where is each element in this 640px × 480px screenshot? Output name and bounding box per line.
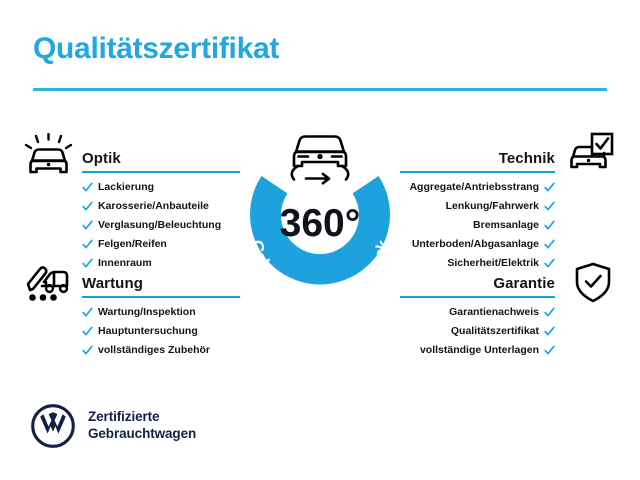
section-wartung-items: Wartung/InspektionHauptuntersuchungvolls… — [82, 307, 240, 356]
title-divider — [33, 88, 607, 91]
checklist-item-label: vollständiges Zubehör — [98, 345, 210, 356]
section-wartung-header: Wartung — [82, 268, 240, 298]
checklist-item: Hauptuntersuchung — [82, 326, 240, 337]
checklist-item-label: Felgen/Reifen — [98, 239, 167, 250]
checklist-item-label: Karosserie/Anbauteile — [98, 201, 209, 212]
checklist-item-label: vollständige Unterlagen — [420, 345, 539, 356]
checklist-item: Unterboden/Abgasanlage — [400, 239, 555, 250]
car-service-tool-icon — [22, 262, 74, 308]
quality-certificate-page: Qualitätszertifikat Optik LackierungKaro… — [0, 0, 640, 480]
badge-360-gebrauchtwagen-check: Gebrauchtwagen-Check 360° — [224, 120, 416, 312]
section-wartung-divider — [82, 296, 240, 298]
badge-center-label: 360° — [280, 202, 361, 245]
section-garantie-header: Garantie — [400, 268, 555, 298]
checklist-item-label: Garantienachweis — [449, 307, 539, 318]
checklist-item-label: Bremsanlage — [473, 220, 539, 231]
check-icon — [544, 239, 555, 250]
section-garantie-items: GarantienachweisQualitätszertifikatvolls… — [400, 307, 555, 356]
checklist-item: Qualitätszertifikat — [400, 326, 555, 337]
checklist-item: Verglasung/Beleuchtung — [82, 220, 240, 231]
check-icon — [82, 220, 93, 231]
volkswagen-logo — [31, 404, 75, 448]
section-optik-header: Optik — [82, 143, 240, 173]
check-icon — [82, 201, 93, 212]
car-checkbox-icon — [567, 131, 615, 177]
section-technik-title: Technik — [499, 150, 555, 167]
check-icon — [544, 220, 555, 231]
section-wartung: Wartung Wartung/InspektionHauptuntersuch… — [82, 268, 240, 364]
check-icon — [544, 307, 555, 318]
check-icon — [544, 201, 555, 212]
section-optik-title: Optik — [82, 150, 121, 167]
checklist-item: Bremsanlage — [400, 220, 555, 231]
section-garantie-divider — [400, 296, 555, 298]
check-icon — [544, 326, 555, 337]
checklist-item: Felgen/Reifen — [82, 239, 240, 250]
checklist-item-label: Wartung/Inspektion — [98, 307, 196, 318]
check-icon — [82, 307, 93, 318]
section-technik-items: Aggregate/AntriebsstrangLenkung/Fahrwerk… — [400, 182, 555, 269]
checklist-item-label: Lackierung — [98, 182, 154, 193]
checklist-item: Garantienachweis — [400, 307, 555, 318]
footer-line-1: Zertifizierte — [88, 409, 196, 426]
check-icon — [82, 345, 93, 356]
section-garantie-title: Garantie — [493, 275, 555, 292]
checklist-item-label: Hauptuntersuchung — [98, 326, 198, 337]
checklist-item: Karosserie/Anbauteile — [82, 201, 240, 212]
shield-check-icon — [572, 260, 614, 306]
footer-brand: Zertifizierte Gebrauchtwagen — [31, 404, 196, 448]
checklist-item: vollständige Unterlagen — [400, 345, 555, 356]
checklist-item-label: Aggregate/Antriebsstrang — [409, 182, 539, 193]
section-technik: Technik Aggregate/AntriebsstrangLenkung/… — [400, 143, 555, 277]
checklist-item: vollständiges Zubehör — [82, 345, 240, 356]
page-title: Qualitätszertifikat — [33, 34, 279, 64]
checklist-item: Lenkung/Fahrwerk — [400, 201, 555, 212]
check-icon — [82, 239, 93, 250]
checklist-item: Aggregate/Antriebsstrang — [400, 182, 555, 193]
section-optik: Optik LackierungKarosserie/AnbauteileVer… — [82, 143, 240, 277]
footer-line-2: Gebrauchtwagen — [88, 426, 196, 443]
section-optik-divider — [82, 171, 240, 173]
checklist-item-label: Qualitätszertifikat — [451, 326, 539, 337]
checklist-item: Lackierung — [82, 182, 240, 193]
section-technik-divider — [400, 171, 555, 173]
check-icon — [544, 345, 555, 356]
footer-text: Zertifizierte Gebrauchtwagen — [88, 409, 196, 443]
checklist-item: Wartung/Inspektion — [82, 307, 240, 318]
checklist-item-label: Lenkung/Fahrwerk — [446, 201, 539, 212]
checklist-item-label: Unterboden/Abgasanlage — [412, 239, 539, 250]
car-shine-icon — [24, 133, 74, 179]
check-icon — [82, 182, 93, 193]
section-optik-items: LackierungKarosserie/AnbauteileVerglasun… — [82, 182, 240, 269]
check-icon — [82, 326, 93, 337]
check-icon — [544, 182, 555, 193]
car-front-rotate-icon — [292, 137, 349, 184]
section-technik-header: Technik — [400, 143, 555, 173]
section-wartung-title: Wartung — [82, 275, 143, 292]
section-garantie: Garantie GarantienachweisQualitätszertif… — [400, 268, 555, 364]
checklist-item-label: Verglasung/Beleuchtung — [98, 220, 221, 231]
